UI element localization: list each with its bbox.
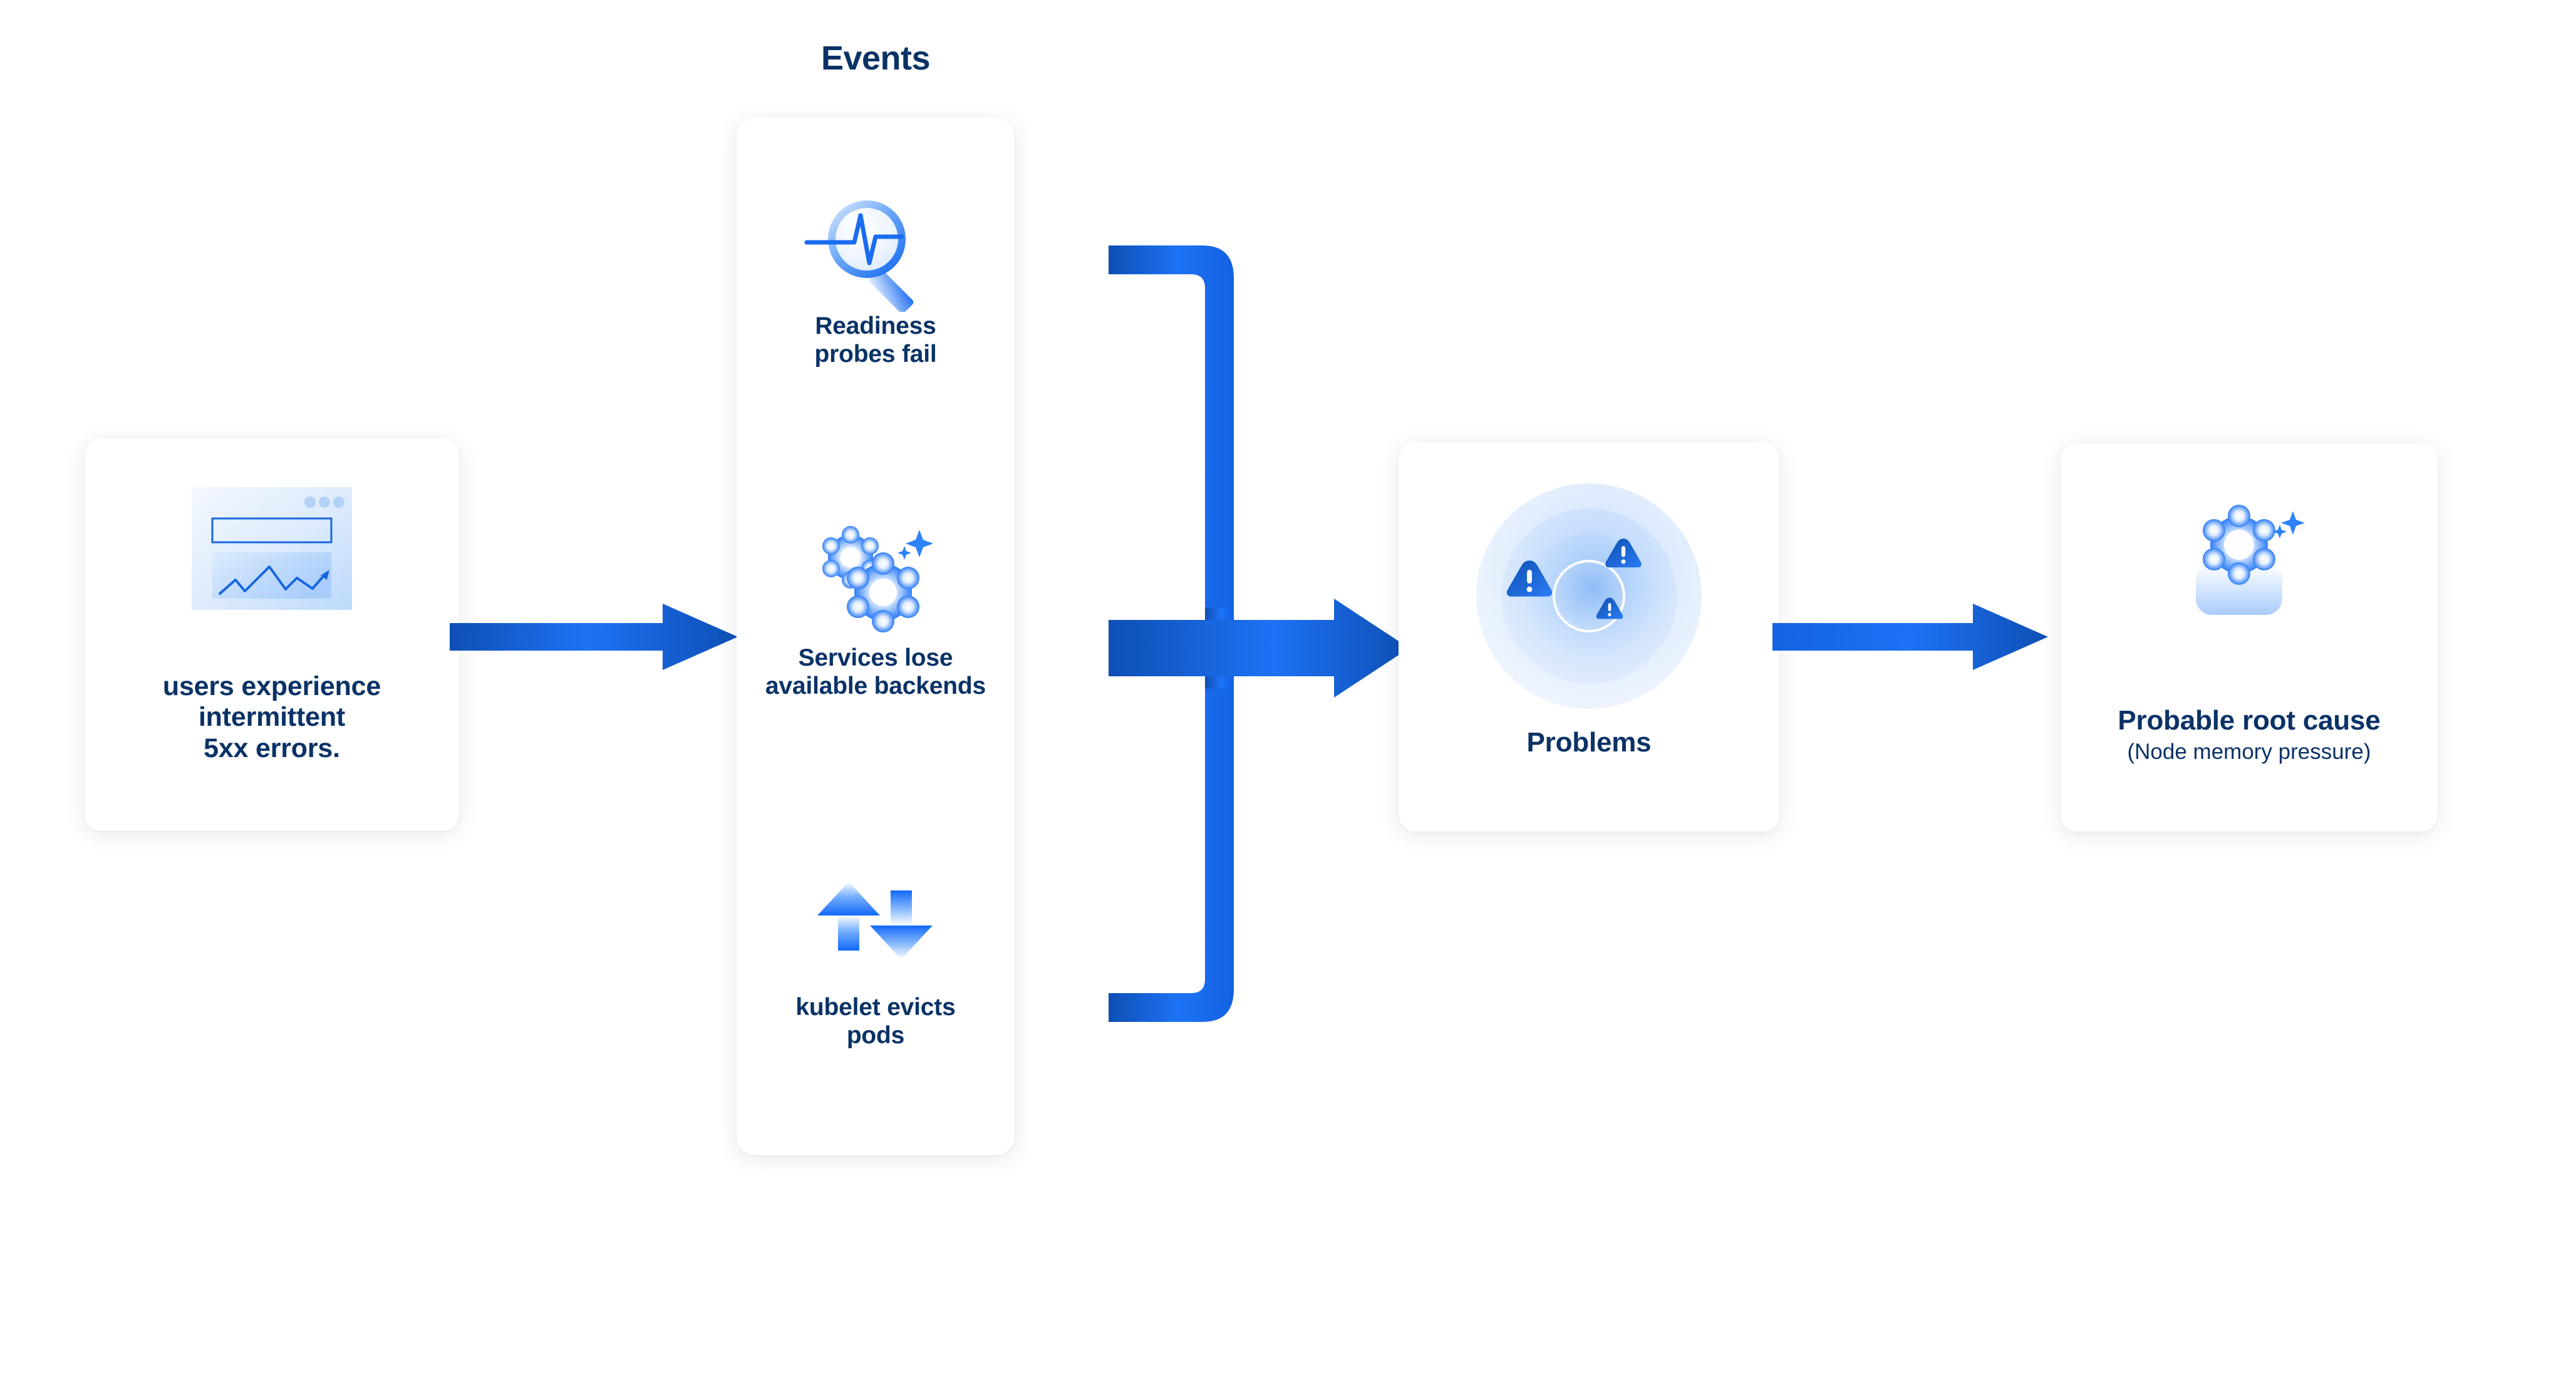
events-card[interactable]: Readiness probes fail — [737, 118, 1015, 1155]
event-item-services-lose-backends[interactable]: Services lose available backends — [737, 518, 1015, 700]
event-1-line-1: Services lose — [748, 644, 1003, 672]
event-0-line-1: Readiness — [748, 312, 1003, 340]
root-cause-card[interactable]: Probable root cause (Node memory pressur… — [2061, 443, 2438, 832]
connector-problems-to-root-cause — [1772, 600, 2048, 674]
user-impact-label-line-1: users experience — [85, 671, 459, 702]
problems-card[interactable]: Problems — [1399, 442, 1779, 832]
user-impact-card[interactable]: users experience intermittent 5xx errors… — [85, 438, 459, 831]
user-impact-label: users experience intermittent 5xx errors… — [85, 671, 459, 764]
event-label-kubelet: kubelet evicts pods — [737, 993, 1015, 1049]
event-item-kubelet-evicts-pods[interactable]: kubelet evicts pods — [737, 868, 1015, 1049]
event-2-line-2: pods — [748, 1021, 1003, 1049]
root-cause-sublabel: (Node memory pressure) — [2061, 739, 2438, 765]
event-0-line-2: probes fail — [748, 340, 1003, 368]
gear-sparkle-node-icon — [2177, 488, 2321, 626]
connector-events-to-problems — [1109, 232, 1409, 1065]
event-1-line-2: available backends — [748, 672, 1003, 700]
event-label-readiness: Readiness probes fail — [737, 312, 1015, 368]
radar-warnings-icon — [1467, 477, 1711, 721]
magnifier-pulse-icon — [737, 187, 1015, 312]
user-impact-label-line-3: 5xx errors. — [85, 733, 459, 764]
event-2-line-1: kubelet evicts — [748, 993, 1003, 1021]
diagram-canvas: users experience intermittent 5xx errors… — [0, 0, 2576, 1382]
problems-label: Problems — [1399, 727, 1779, 759]
connector-impact-to-events — [450, 600, 738, 674]
up-down-arrows-icon — [737, 868, 1015, 993]
two-gears-sparkle-icon — [737, 518, 1015, 644]
browser-window-chart-icon — [192, 487, 352, 610]
root-cause-label: Probable root cause — [2061, 705, 2438, 737]
event-label-services: Services lose available backends — [737, 644, 1015, 700]
events-section-title: Events — [737, 39, 1015, 78]
user-impact-label-line-2: intermittent — [85, 702, 459, 733]
event-item-readiness-probes-fail[interactable]: Readiness probes fail — [737, 187, 1015, 368]
